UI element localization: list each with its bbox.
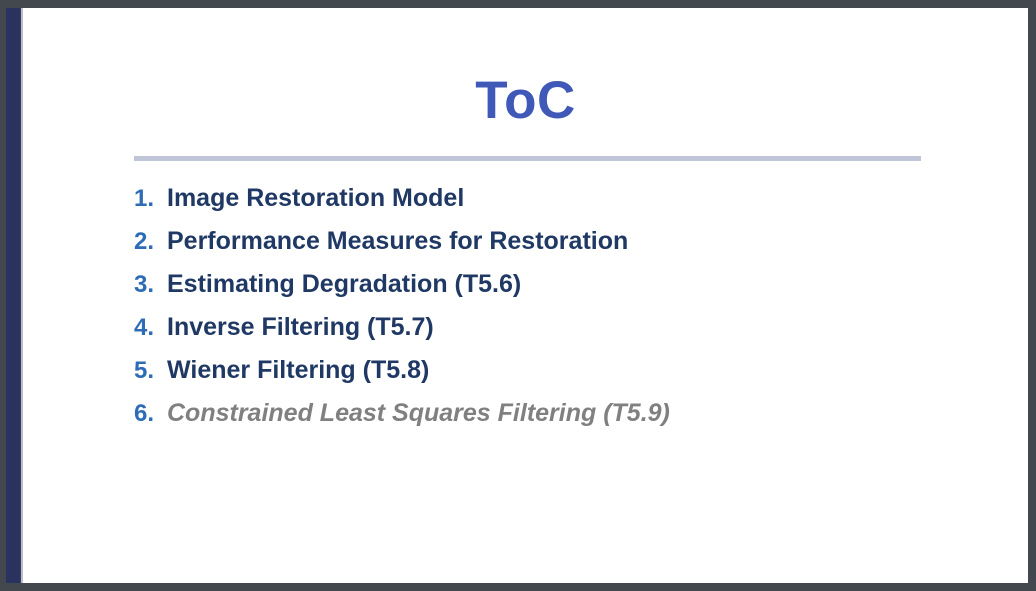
toc-item-number: 5. [134, 357, 167, 385]
toc-item-number: 1. [134, 185, 167, 213]
toc-item-label: Performance Measures for Restoration [167, 227, 628, 256]
slide-accent-bar [6, 8, 20, 583]
toc-item[interactable]: 4. Inverse Filtering (T5.7) [134, 313, 994, 356]
slide-viewer-frame: ToC 1. Image Restoration Model 2. Perfor… [0, 0, 1036, 591]
toc-item-number: 6. [134, 400, 167, 428]
slide-content: ToC 1. Image Restoration Model 2. Perfor… [23, 8, 1028, 583]
toc-item[interactable]: 1. Image Restoration Model [134, 184, 994, 227]
toc-item-label: Estimating Degradation (T5.6) [167, 270, 521, 299]
toc-item[interactable]: 6. Constrained Least Squares Filtering (… [134, 399, 994, 442]
toc-item[interactable]: 3. Estimating Degradation (T5.6) [134, 270, 994, 313]
toc-item-label: Wiener Filtering (T5.8) [167, 356, 429, 385]
slide-accent-separator-inner [20, 8, 21, 583]
toc-item[interactable]: 5. Wiener Filtering (T5.8) [134, 356, 994, 399]
toc-item-number: 4. [134, 314, 167, 342]
toc-item-label: Constrained Least Squares Filtering (T5.… [167, 399, 670, 428]
slide-title: ToC [23, 74, 1028, 127]
toc-item-label: Inverse Filtering (T5.7) [167, 313, 434, 342]
toc-list: 1. Image Restoration Model 2. Performanc… [134, 184, 994, 442]
toc-item[interactable]: 2. Performance Measures for Restoration [134, 227, 994, 270]
toc-item-number: 3. [134, 271, 167, 299]
title-divider [134, 156, 921, 161]
toc-item-label: Image Restoration Model [167, 184, 464, 213]
toc-item-number: 2. [134, 228, 167, 256]
slide-page: ToC 1. Image Restoration Model 2. Perfor… [6, 8, 1028, 583]
